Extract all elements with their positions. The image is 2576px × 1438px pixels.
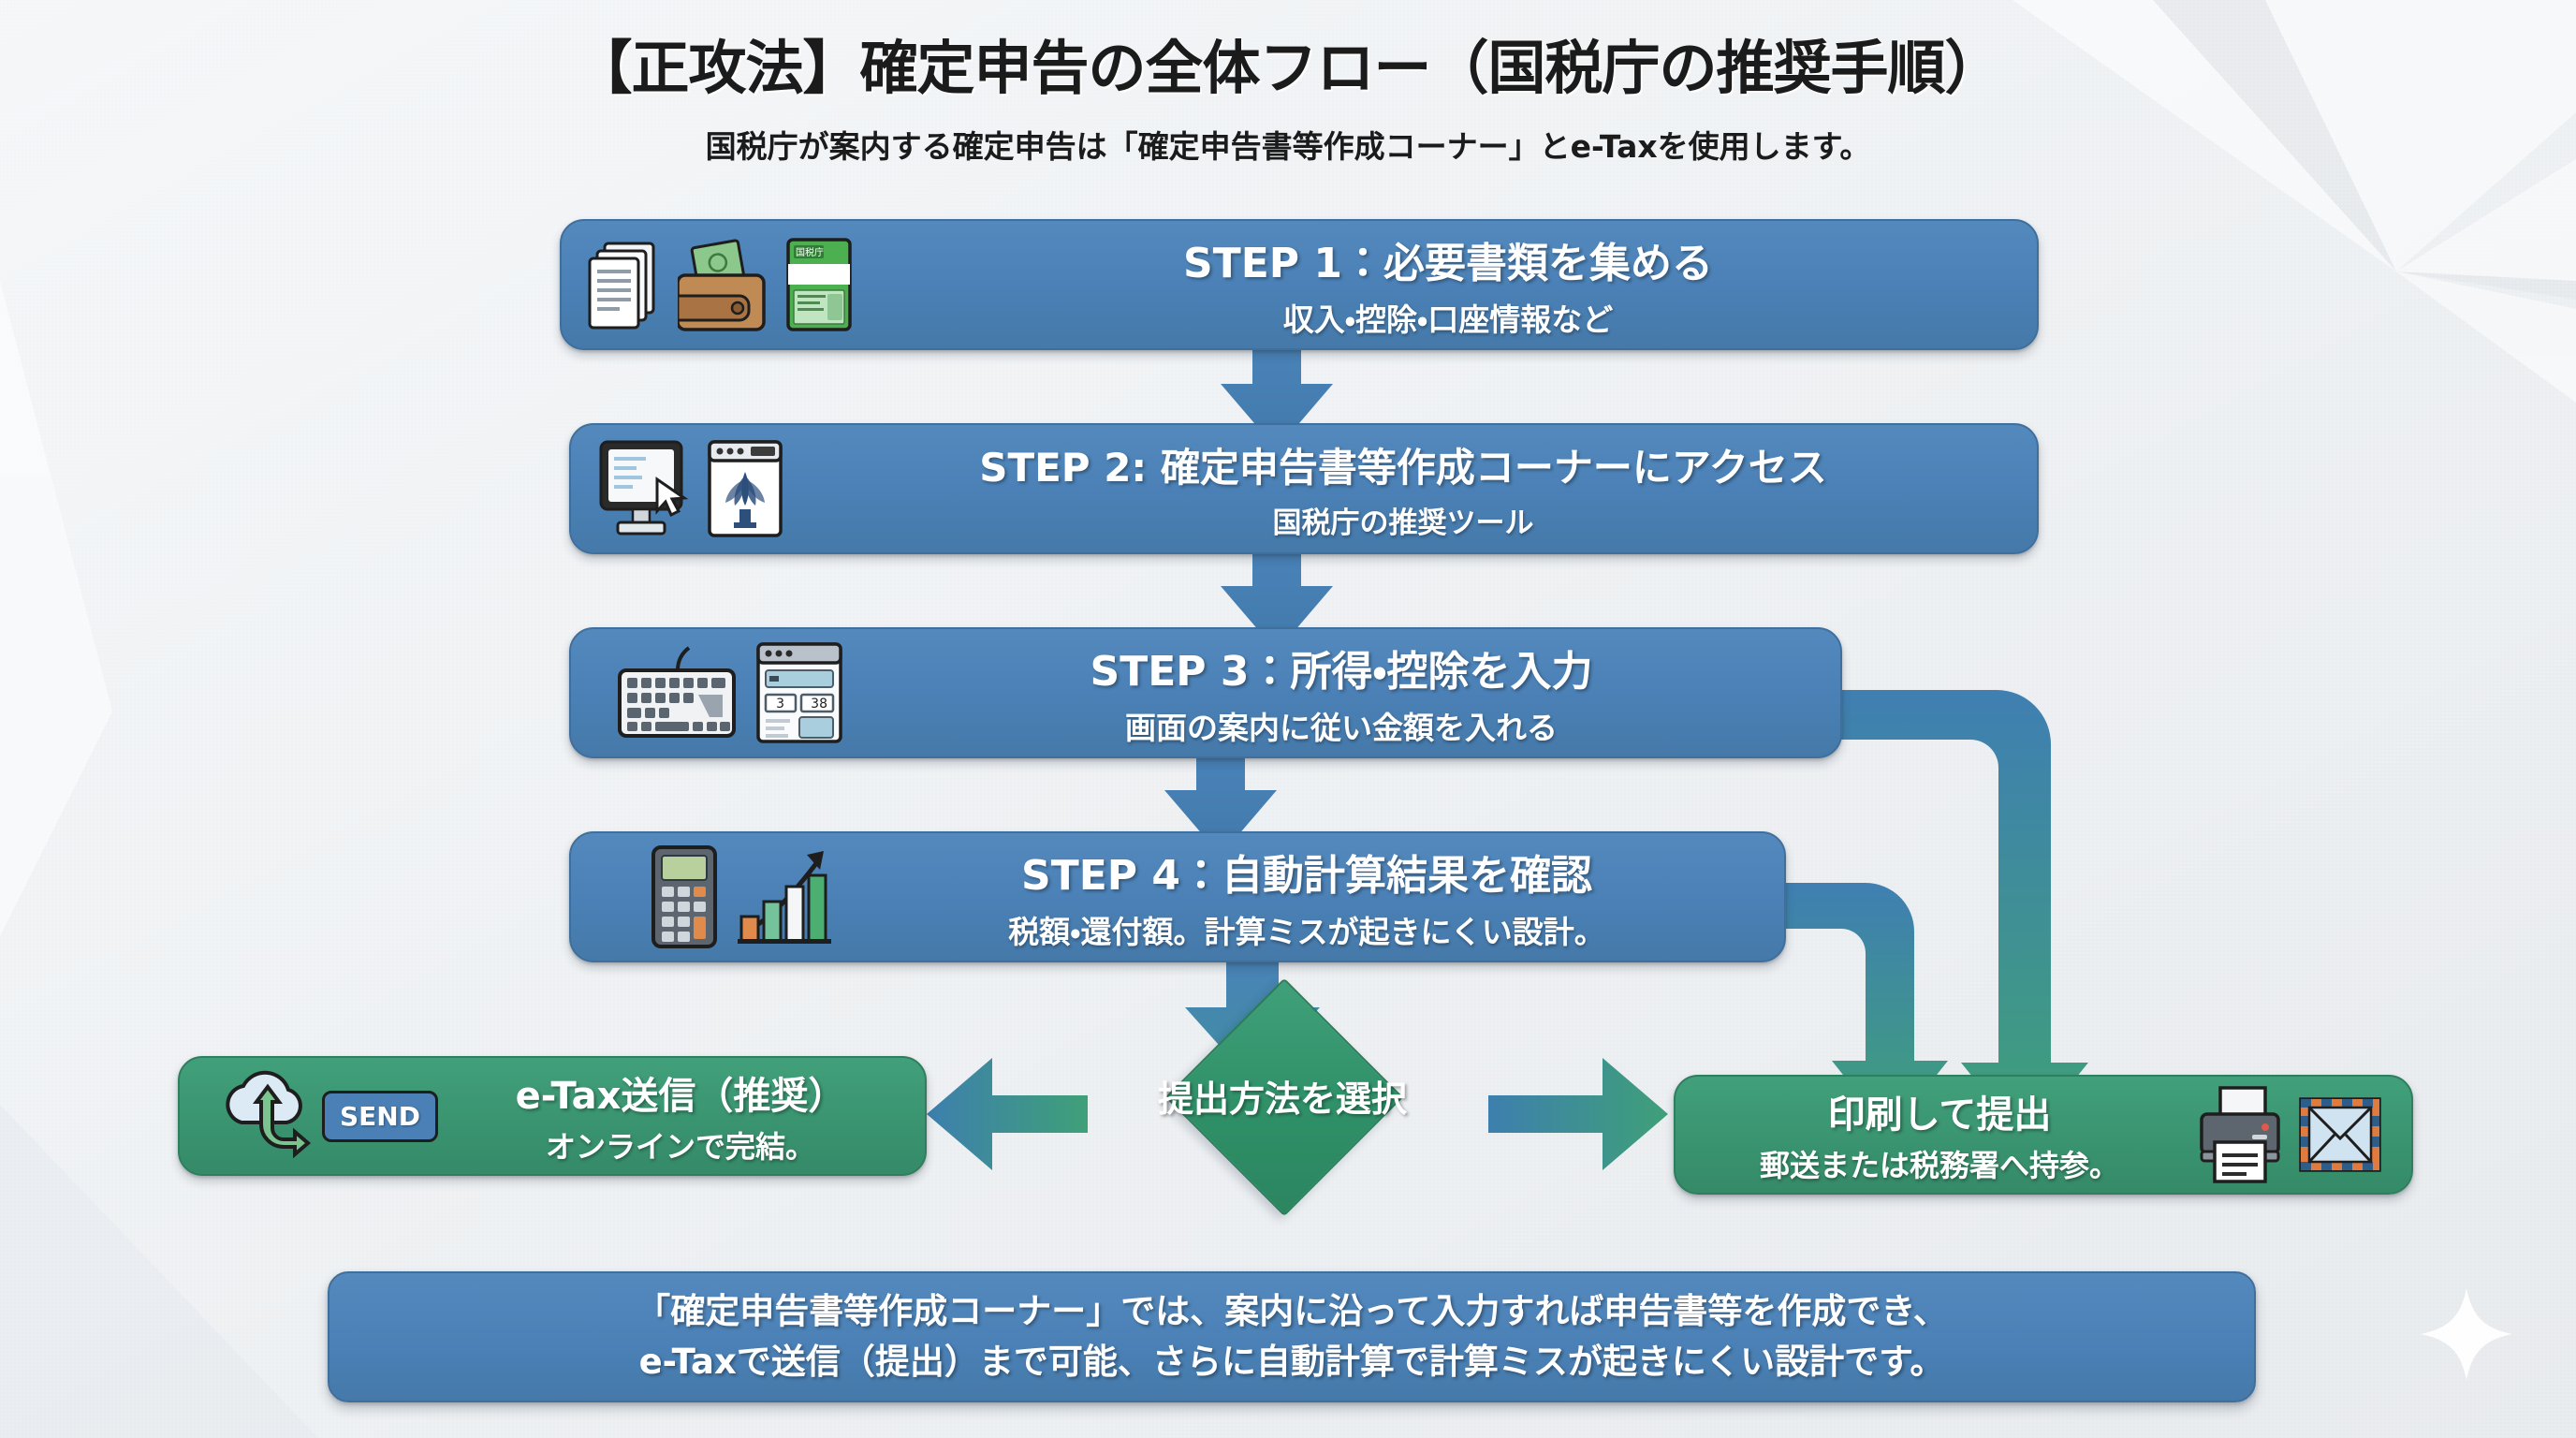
step-4-icons [595,844,844,950]
arrow-decision-etax [927,1058,1088,1170]
page-subtitle: 国税庁が案内する確定申告は「確定申告書等作成コーナー」とe-Taxを使用します。 [0,122,2576,167]
browser-emblem-icon [706,438,784,539]
summary-banner: 「確定申告書等作成コーナー」では、案内に沿って入力すれば申告書等を作成でき、 e… [328,1271,2256,1402]
etax-text: e-Tax送信（推奨） オンラインで完結。 [438,1065,904,1167]
keyboard-icon [616,642,738,743]
decision-label: 提出方法を選択 [1158,1070,1407,1122]
svg-text:3: 3 [776,697,784,712]
documents-icon [586,238,663,331]
step-3-title: STEP 3：所得・控除を入力 [1090,638,1593,697]
step-1-subtitle: 収入・控除・口座情報など [1283,295,1613,340]
step-4-title: STEP 4：自動計算結果を確認 [1021,842,1592,902]
decision-diamond[interactable]: 提出方法を選択 [1078,1013,1486,1178]
airmail-envelope-icon [2297,1095,2383,1174]
bar-chart-growth-icon [734,844,844,950]
step-1-icons: 国税庁 [586,236,856,333]
summary-line-2: e-Taxで送信（提出）まで可能、さらに自動計算で計算ミスが起きにくい設計です。 [639,1337,1945,1387]
print-card[interactable]: 印刷して提出 郵送または税務署へ持参。 [1674,1075,2413,1195]
etax-icons: SEND [200,1070,438,1162]
step-1-card[interactable]: 国税庁 STEP 1：必要書類を集める 収入・控除・口座情報など [560,219,2039,350]
step-3-subtitle: 画面の案内に従い金額を入れる [1125,703,1558,748]
bankbook-icon: 国税庁 [783,236,856,333]
monitor-cursor-icon [595,438,693,539]
step-2-title: STEP 2: 確定申告書等作成コーナーにアクセス [979,436,1827,493]
step-2-text: STEP 2: 確定申告書等作成コーナーにアクセス 国税庁の推奨ツール [784,436,2012,541]
summary-line-1: 「確定申告書等作成コーナー」では、案内に沿って入力すれば申告書等を作成でき、 [636,1286,1948,1337]
print-subtitle: 郵送または税務署へ持参。 [1760,1142,2119,1185]
svg-text:38: 38 [811,697,827,712]
print-title: 印刷して提出 [1828,1084,2052,1138]
step-4-text: STEP 4：自動計算結果を確認 税額・還付額。計算ミスが起きにくい設計。 [844,842,1760,952]
form-window-icon: 3 38 [754,640,844,745]
svg-text:国税庁: 国税庁 [796,246,824,258]
connector-step3-print [1839,690,2088,1141]
print-icons [2196,1086,2391,1183]
calculator-icon [650,844,719,950]
step-1-title: STEP 1：必要書類を集める [1183,229,1713,289]
sparkle-decoration [2415,1283,2518,1386]
cloud-upload-icon [215,1070,313,1162]
step-3-text: STEP 3：所得・控除を入力 画面の案内に従い金額を入れる [844,638,1816,748]
step-3-card[interactable]: 3 38 STEP 3：所得・控除を入力 画面の案内に従い金額を入れる [569,627,1842,758]
print-text: 印刷して提出 郵送または税務署へ持参。 [1696,1084,2196,1185]
etax-subtitle: オンラインで完結。 [546,1123,815,1167]
etax-card[interactable]: SEND e-Tax送信（推奨） オンラインで完結。 [178,1056,927,1176]
step-4-card[interactable]: STEP 4：自動計算結果を確認 税額・還付額。計算ミスが起きにくい設計。 [569,831,1786,962]
page-title: 【正攻法】確定申告の全体フロー（国税庁の推奨手順） [0,21,2576,105]
etax-title: e-Tax送信（推奨） [516,1065,846,1120]
step-2-card[interactable]: STEP 2: 確定申告書等作成コーナーにアクセス 国税庁の推奨ツール [569,423,2039,554]
step-4-subtitle: 税額・還付額。計算ミスが起きにくい設計。 [1008,907,1605,952]
step-2-subtitle: 国税庁の推奨ツール [1273,499,1534,541]
step-2-icons [595,438,784,539]
arrow-decision-print [1488,1058,1668,1170]
step-1-text: STEP 1：必要書類を集める 収入・控除・口座情報など [856,229,2012,340]
send-badge: SEND [322,1091,438,1142]
printer-icon [2196,1086,2284,1183]
step-3-icons: 3 38 [595,640,844,745]
wallet-icon [678,238,768,331]
